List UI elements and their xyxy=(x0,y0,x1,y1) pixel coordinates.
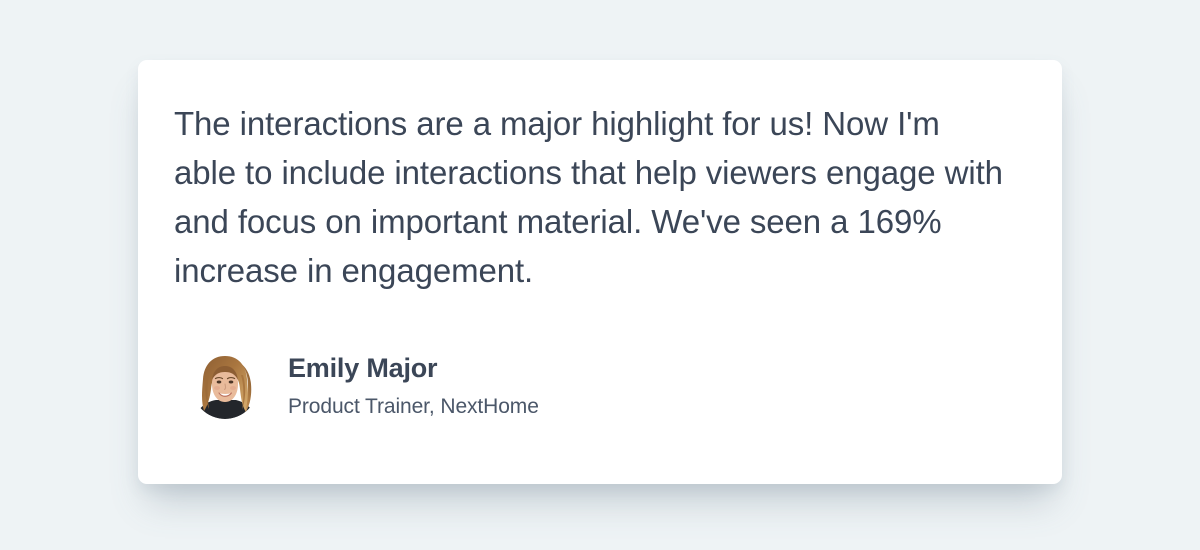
author-meta: Emily Major Product Trainer, NextHome xyxy=(288,352,539,419)
testimonial-card: The interactions are a major highlight f… xyxy=(138,60,1062,484)
testimonial-quote: The interactions are a major highlight f… xyxy=(174,99,1006,295)
testimonial-page: The interactions are a major highlight f… xyxy=(0,0,1200,550)
avatar xyxy=(192,353,258,419)
author-role: Product Trainer, NextHome xyxy=(288,394,539,419)
avatar-photo-portrait-icon xyxy=(192,353,258,419)
testimonial-author: Emily Major Product Trainer, NextHome xyxy=(192,352,539,419)
author-name: Emily Major xyxy=(288,352,539,384)
